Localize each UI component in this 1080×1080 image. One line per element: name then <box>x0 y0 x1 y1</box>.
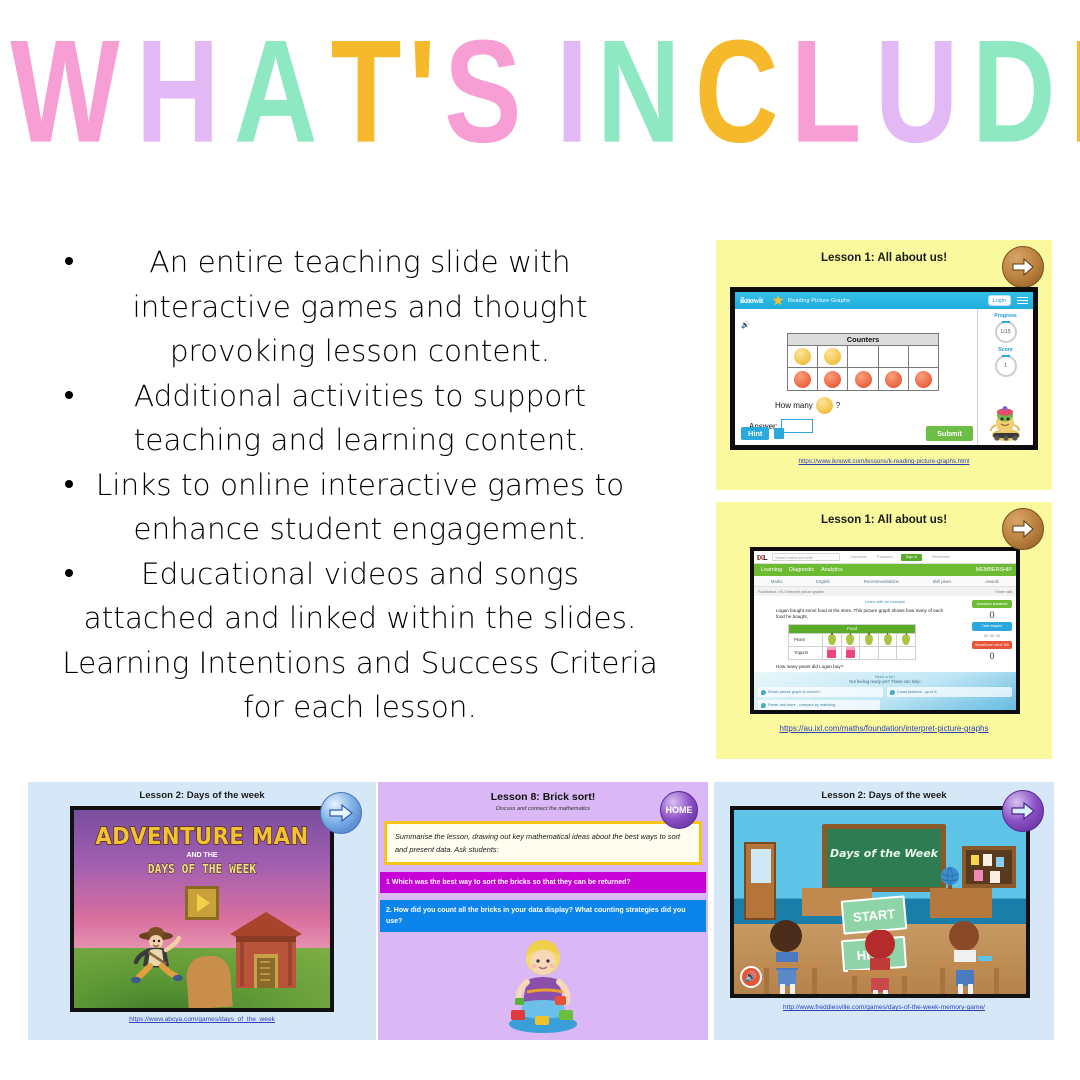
list-item: Educational videos and songs attached an… <box>20 552 700 641</box>
next-arrow-icon[interactable] <box>1002 246 1044 288</box>
username-field[interactable]: Username <box>850 555 867 559</box>
title-letter: W <box>10 18 118 166</box>
resource-url[interactable]: http://www.freddiesville.com/games/days-… <box>714 1004 1054 1011</box>
question-label: How many <box>775 401 813 410</box>
iknowit-lesson-name: Reading Picture Graphs <box>784 298 850 304</box>
iknowit-logo: iknowit <box>735 296 763 305</box>
table-row: Yogurts <box>789 646 915 659</box>
temple-graphic <box>224 908 308 992</box>
thumbnail-card-brick-sort: Lesson 8: Brick sort! Discuss and connec… <box>378 782 708 1040</box>
title-letter: A <box>234 18 316 166</box>
bullet-dot <box>65 257 73 265</box>
arrow-right-icon <box>1012 520 1034 538</box>
question-prompt: How many pears did Logan buy? <box>776 664 1016 669</box>
bullet-line: provoking lesson content. <box>20 329 700 374</box>
counters-table: Counters <box>787 333 939 391</box>
classroom-game-screenshot: Days of the Week START HELP <box>730 806 1030 998</box>
title-letter: C <box>695 18 777 166</box>
hint-button[interactable]: Hint <box>741 427 769 440</box>
question-text: 2. How did you count all the bricks in y… <box>386 907 685 925</box>
home-label: HOME <box>666 805 693 815</box>
title-letter: I <box>556 18 587 166</box>
bullet-line: teaching and learning content. <box>20 418 700 463</box>
iknowit-topbar: iknowit Reading Picture Graphs Login <box>735 292 1033 309</box>
card-lesson-title: Lesson 8: Brick sort! <box>378 782 708 803</box>
student-left <box>758 918 828 996</box>
bullet-line: attached and linked within the slides. <box>20 596 700 641</box>
home-button[interactable]: HOME <box>660 791 698 829</box>
title-letter: ' <box>408 18 434 166</box>
iknowit-sidebar: Progress 1/15 Score 1 <box>977 309 1033 445</box>
list-item: Links to online interactive games to enh… <box>20 463 700 552</box>
child-with-bricks-graphic <box>493 936 593 1036</box>
help-chip[interactable]: Count pictures - up to 5 <box>887 687 1012 697</box>
next-arrow-icon[interactable] <box>320 792 362 834</box>
bullet-line: Links to online interactive games to <box>20 463 700 508</box>
bullet-dot <box>65 391 73 399</box>
thumbnail-card-ixl: Lesson 1: All about us! IXL Search maths… <box>716 502 1052 759</box>
password-field[interactable]: Password <box>877 555 893 559</box>
title-letter: N <box>597 18 679 166</box>
picture-graph-table: Food Pears Yogurts <box>788 624 916 660</box>
nav-item-learning[interactable]: Learning <box>761 567 782 573</box>
closing-line: Learning Intentions and Success Criteria <box>20 641 700 686</box>
iknowit-action-bar: Hint Submit <box>741 426 973 441</box>
nav-item-analytics[interactable]: Analytics <box>821 567 843 573</box>
arrow-right-icon <box>329 804 353 822</box>
game-title: ADVENTURE MAN <box>84 824 320 850</box>
start-label: START <box>852 906 896 925</box>
thumbnail-card-iknowit: Lesson 1: All about us! iknowit Reading … <box>716 240 1052 490</box>
list-item: An entire teaching slide with interactiv… <box>20 240 700 374</box>
speaker-icon[interactable]: 🔊 <box>741 322 750 329</box>
questions-answered-badge: Questions answered <box>972 600 1012 608</box>
subnav-awards[interactable]: Awards <box>985 579 999 584</box>
submit-button[interactable]: Submit <box>926 426 973 441</box>
time-elapsed-badge: Time elapsed <box>972 622 1012 630</box>
next-arrow-icon[interactable] <box>1002 508 1044 550</box>
title-letter: D <box>972 18 1054 166</box>
question-text: 1 Which was the best way to sort the bri… <box>386 879 631 886</box>
ixl-logo: IXL <box>754 553 767 562</box>
table-header: Counters <box>788 334 938 346</box>
question-bar-2: 2. How did you count all the bricks in y… <box>380 900 706 932</box>
nav-item-diagnostic[interactable]: Diagnostic <box>789 567 814 573</box>
ixl-topbar: IXL Search maths and skills Username Pas… <box>754 551 1016 564</box>
subnav-english[interactable]: English <box>816 579 830 584</box>
help-chip[interactable]: Which picture graph is correct? <box>758 687 883 697</box>
sound-icon[interactable]: 🔊 <box>740 966 762 988</box>
adventurer-character <box>128 924 190 990</box>
features-list: An entire teaching slide with interactiv… <box>20 240 700 730</box>
ixl-main-nav: Learning Diagnostic Analytics MEMBERSHIP <box>754 564 1016 576</box>
shelf-desk <box>930 888 992 918</box>
iknowit-app-screenshot: iknowit Reading Picture Graphs Login 🔊 C… <box>730 287 1038 450</box>
thumbnail-card-classroom-game: Lesson 2: Days of the week Days of the W… <box>714 782 1054 1040</box>
door-graphic <box>744 842 776 920</box>
smartscore-badge: SmartScore out of 100 <box>972 641 1012 649</box>
card-subtitle: Discuss and connect the mathematics <box>378 803 708 812</box>
bullet-line: enhance student engagement. <box>20 507 700 552</box>
progress-label: Progress <box>978 313 1033 319</box>
remember-checkbox[interactable]: Remember <box>932 555 950 559</box>
title-letter: H <box>136 18 218 166</box>
game-subtitle: DAYS OF THE WEEK <box>87 861 317 876</box>
table-row <box>788 368 938 390</box>
resource-url[interactable]: https://au.ixl.com/maths/foundation/inte… <box>716 724 1052 733</box>
chalkboard: Days of the Week <box>822 824 946 892</box>
subnav-skill-plans[interactable]: Skill plans <box>932 579 951 584</box>
table-row <box>788 346 938 368</box>
mascot-icon <box>987 403 1025 443</box>
score-label: Score <box>978 347 1033 353</box>
smartscore-value: 0 <box>972 651 1012 661</box>
subnav-recommendations[interactable]: Recommendations <box>864 579 899 584</box>
ixl-question-area: Learn with an example Logan bought some … <box>754 596 1016 714</box>
table-row: Pears <box>789 633 915 646</box>
bullet-line: An entire teaching slide with <box>20 240 700 285</box>
search-input[interactable]: Search maths and skills <box>772 553 840 561</box>
row-label-pears: Pears <box>789 634 823 646</box>
card-lesson-title: Lesson 2: Days of the week <box>714 782 1054 801</box>
instruction-text: Summarise the lesson, drawing out key ma… <box>395 830 691 856</box>
iknowit-main-panel: 🔊 Counters <box>735 309 977 445</box>
list-item: Additional activities to support teachin… <box>20 374 700 463</box>
start-button[interactable]: START <box>841 895 908 934</box>
score-ring: 1 <box>995 355 1017 377</box>
play-button[interactable] <box>185 886 219 920</box>
student-middle <box>846 930 916 998</box>
game-connector: AND THE <box>74 852 330 859</box>
progress-ring: 1/15 <box>995 321 1017 343</box>
row-label-yogurts: Yogurts <box>789 647 823 659</box>
graph-header: Food <box>789 625 915 633</box>
card-lesson-title: Lesson 2: Days of the week <box>28 782 376 801</box>
question-text: How many ? <box>775 397 973 414</box>
bullet-line: Educational videos and songs <box>20 552 700 597</box>
card-lesson-title: Lesson 1: All about us! <box>716 240 1052 264</box>
subnav-maths[interactable]: Maths <box>771 579 782 584</box>
membership-label[interactable]: MEMBERSHIP <box>976 567 1012 573</box>
thumbnail-card-adventure-man: Lesson 2: Days of the week <box>28 782 376 1040</box>
iknowit-body: 🔊 Counters <box>735 309 1033 445</box>
question-bar-1: 1 Which was the best way to sort the bri… <box>380 872 706 893</box>
arrow-right-icon <box>1012 258 1034 276</box>
question-suffix: ? <box>836 401 840 410</box>
title-letter: T <box>330 18 399 166</box>
title-letter: L <box>791 18 860 166</box>
login-button[interactable]: Login <box>988 295 1011 306</box>
counter-yellow-icon <box>816 397 833 414</box>
title-letter: E <box>1069 18 1080 166</box>
corkboard-graphic <box>962 846 1016 888</box>
signin-button[interactable]: Sign in <box>901 554 923 561</box>
bullet-dot <box>65 569 73 577</box>
hamburger-menu-icon[interactable] <box>1017 295 1028 306</box>
bullet-line: interactive games and thought <box>20 285 700 330</box>
star-icon <box>772 295 784 307</box>
adventure-man-game-screenshot: ADVENTURE MAN AND THE DAYS OF THE WEEK <box>70 806 334 1012</box>
closing-line: for each lesson. <box>20 685 700 730</box>
arrow-right-icon <box>1011 802 1035 820</box>
lock-icon[interactable] <box>774 428 784 439</box>
breadcrumb: Foundation > B.2 Interpret picture graph… <box>754 587 1016 596</box>
ixl-help-panel: Need a tip? Not feeling ready yet? These… <box>754 672 1016 714</box>
timer-readout: 00 : 00 : 00 <box>972 634 1012 638</box>
ixl-subnav: Maths English Recommendations Skill plan… <box>754 576 1016 587</box>
next-arrow-icon[interactable] <box>1002 790 1044 832</box>
ixl-app-screenshot: IXL Search maths and skills Username Pas… <box>750 547 1020 714</box>
help-chip[interactable]: Fewer and more - compare by matching <box>758 700 880 710</box>
title-letter: S <box>444 18 520 166</box>
chalkboard-title: Days of the Week <box>827 847 941 860</box>
resource-url[interactable]: https://www.abcya.com/games/days_of_the_… <box>28 1016 376 1023</box>
breadcrumb-text: Foundation > B.2 Interpret picture graph… <box>758 590 824 594</box>
page-title: WHAT'SINCLUDED <box>0 26 1080 166</box>
resource-url[interactable]: https://www.iknowit.com/lessons/k-readin… <box>716 458 1052 465</box>
bullet-line: Additional activities to support <box>20 374 700 419</box>
title-letter: U <box>875 18 957 166</box>
question-text: Logan bought some food at the store. Thi… <box>776 608 946 621</box>
instruction-box: Summarise the lesson, drawing out key ma… <box>384 821 702 865</box>
questions-answered-value: 0 <box>972 610 1012 620</box>
bullet-dot <box>65 480 73 488</box>
ixl-score-panel: Questions answered 0 Time elapsed 00 : 0… <box>972 600 1012 663</box>
card-lesson-title: Lesson 1: All about us! <box>716 502 1052 526</box>
globe-graphic <box>939 866 961 890</box>
share-skill-link[interactable]: Share skill <box>995 590 1012 594</box>
student-right <box>934 918 1008 996</box>
help-title: Need a tip? <box>754 672 1016 679</box>
